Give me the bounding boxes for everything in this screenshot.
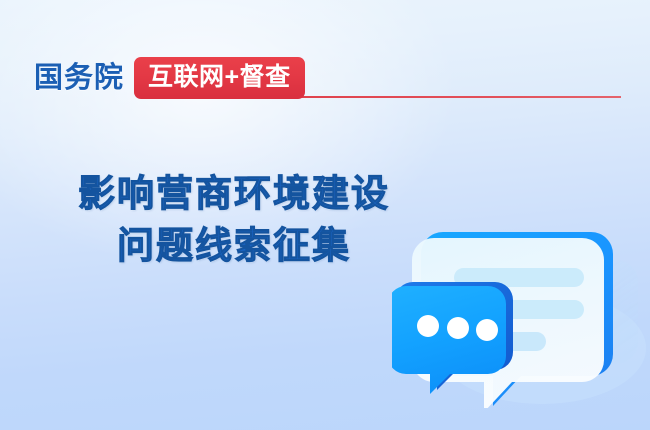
banner: 国务院 互联网+督查 影响营商环境建设 问题线索征集 xyxy=(0,0,650,430)
header-divider xyxy=(295,96,621,98)
typing-dot-3 xyxy=(476,319,498,341)
page-title-line-1: 影响营商环境建设 xyxy=(0,168,468,220)
internet-plus-supervision-badge: 互联网+督查 xyxy=(134,57,305,99)
typing-dot-1 xyxy=(417,315,439,337)
header: 国务院 互联网+督查 xyxy=(34,57,305,99)
page-title: 影响营商环境建设 问题线索征集 xyxy=(0,168,468,272)
gov-label: 国务院 xyxy=(34,64,124,93)
typing-dot-2 xyxy=(447,317,469,339)
page-title-line-2: 问题线索征集 xyxy=(0,220,468,272)
